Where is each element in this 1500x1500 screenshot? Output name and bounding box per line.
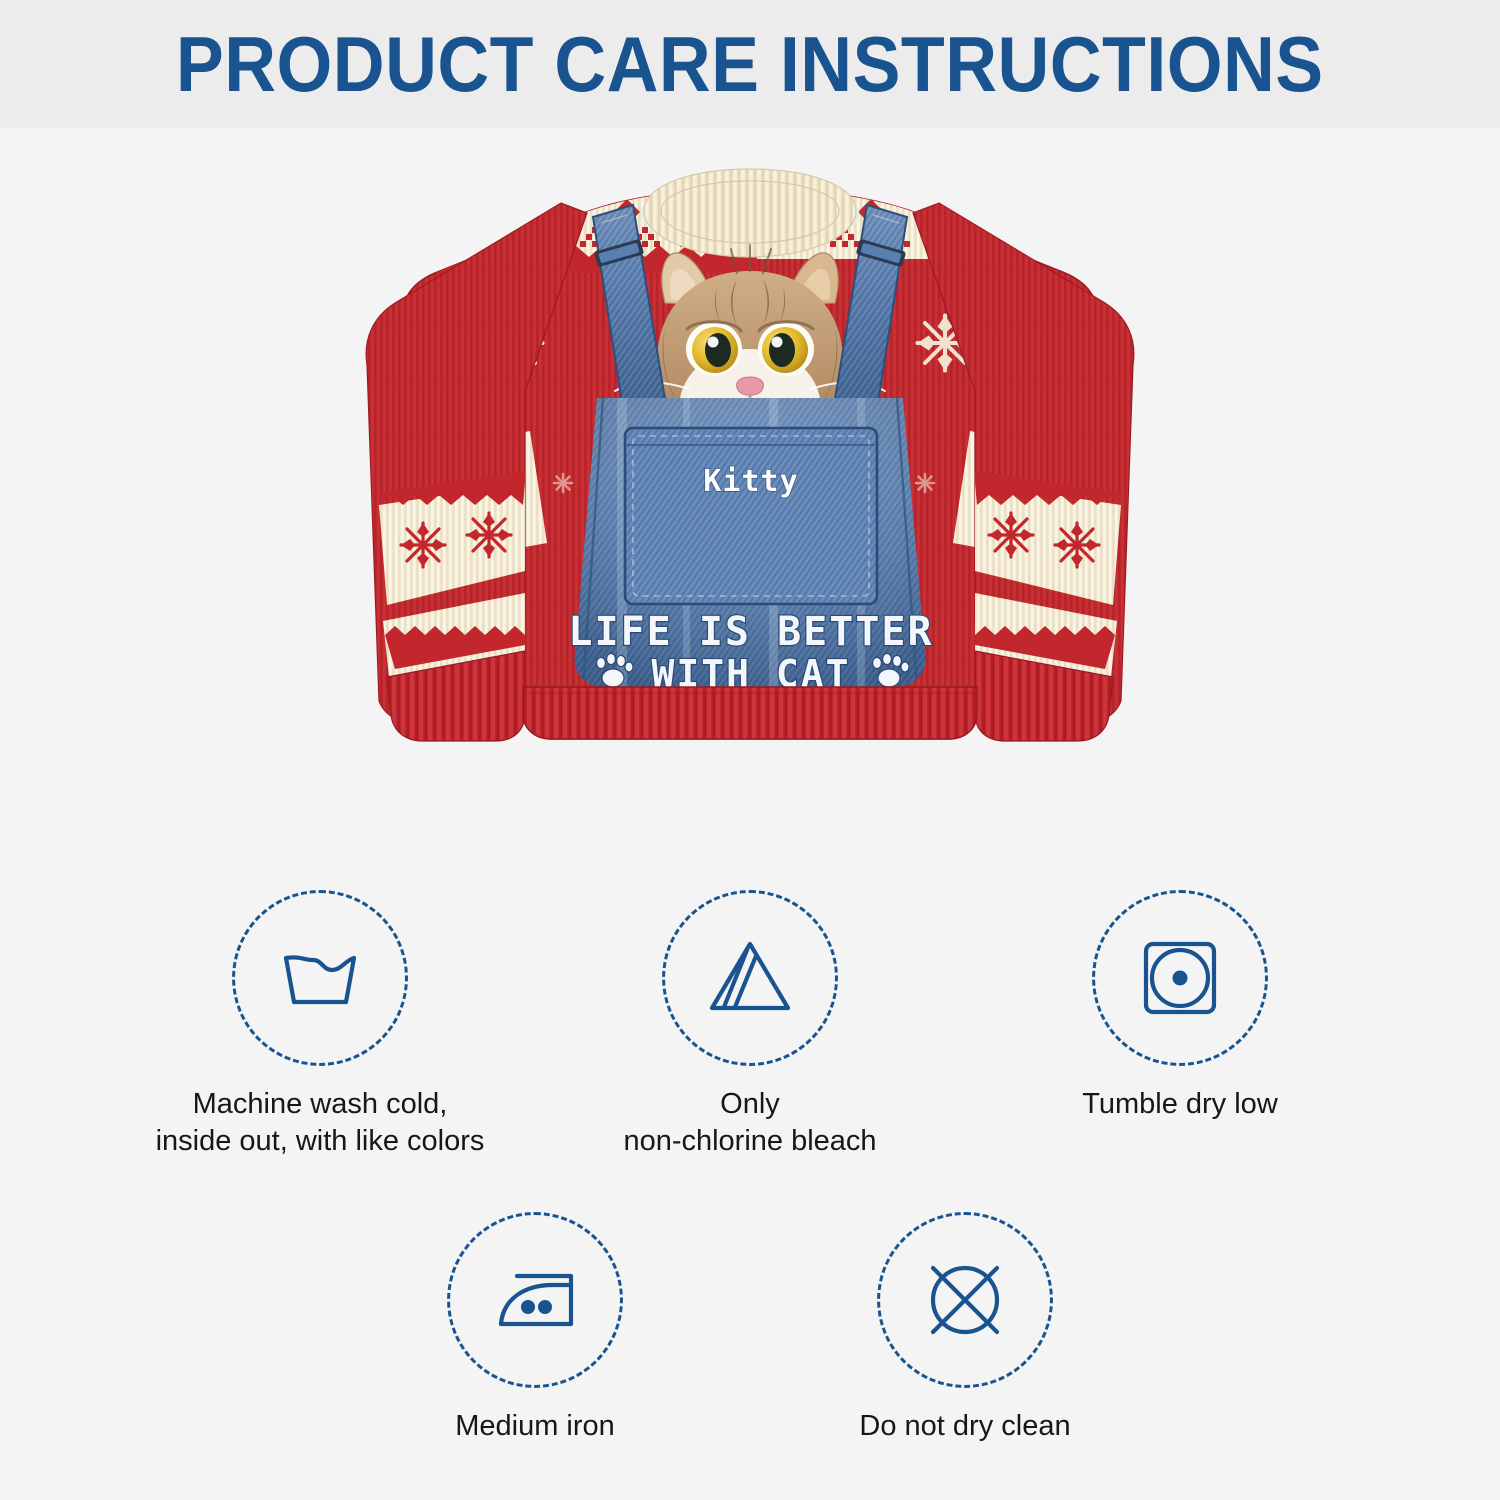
- iron-icon: [487, 1252, 583, 1348]
- care-caption: Do not dry clean: [859, 1408, 1070, 1445]
- bib-pocket: Kitty: [625, 428, 877, 604]
- care-item-dry-clean[interactable]: Do not dry clean: [750, 1212, 1180, 1445]
- care-caption: Medium iron: [455, 1408, 615, 1445]
- bleach-triangle-icon: [702, 930, 798, 1026]
- tumble-dry-icon: [1132, 930, 1228, 1026]
- pocket-name-text: Kitty: [703, 464, 798, 499]
- care-icon-ring: [447, 1212, 623, 1388]
- sweater-illustration: Kitty LIFE IS BETTER WITH CAT: [365, 153, 1135, 853]
- care-caption: Machine wash cold, inside out, with like…: [156, 1086, 485, 1160]
- care-symbols-grid: Machine wash cold, inside out, with like…: [0, 890, 1500, 1500]
- overall-bib: Kitty LIFE IS BETTER WITH CAT: [565, 393, 945, 696]
- page-title: PRODUCT CARE INSTRUCTIONS: [176, 25, 1324, 103]
- slogan-line-1: LIFE IS BETTER: [568, 609, 933, 655]
- care-row-2: Medium iron Do not dry clean: [0, 1212, 1500, 1445]
- care-icon-ring: [1092, 890, 1268, 1066]
- page-header: PRODUCT CARE INSTRUCTIONS: [0, 0, 1500, 128]
- care-caption: Tumble dry low: [1082, 1086, 1278, 1123]
- no-dry-clean-icon: [917, 1252, 1013, 1348]
- sweater-image: Kitty LIFE IS BETTER WITH CAT: [365, 153, 1135, 853]
- hem-rib: [523, 687, 977, 739]
- care-caption: Only non-chlorine bleach: [623, 1086, 876, 1160]
- wash-basin-icon: [272, 930, 368, 1026]
- care-row-1: Machine wash cold, inside out, with like…: [0, 890, 1500, 1160]
- care-item-iron[interactable]: Medium iron: [320, 1212, 750, 1445]
- care-icon-ring: [662, 890, 838, 1066]
- care-icon-ring: [232, 890, 408, 1066]
- care-icon-ring: [877, 1212, 1053, 1388]
- care-item-machine-wash[interactable]: Machine wash cold, inside out, with like…: [105, 890, 535, 1160]
- care-item-bleach[interactable]: Only non-chlorine bleach: [535, 890, 965, 1160]
- care-item-tumble-dry[interactable]: Tumble dry low: [965, 890, 1395, 1160]
- product-stage: Kitty LIFE IS BETTER WITH CAT: [0, 128, 1500, 888]
